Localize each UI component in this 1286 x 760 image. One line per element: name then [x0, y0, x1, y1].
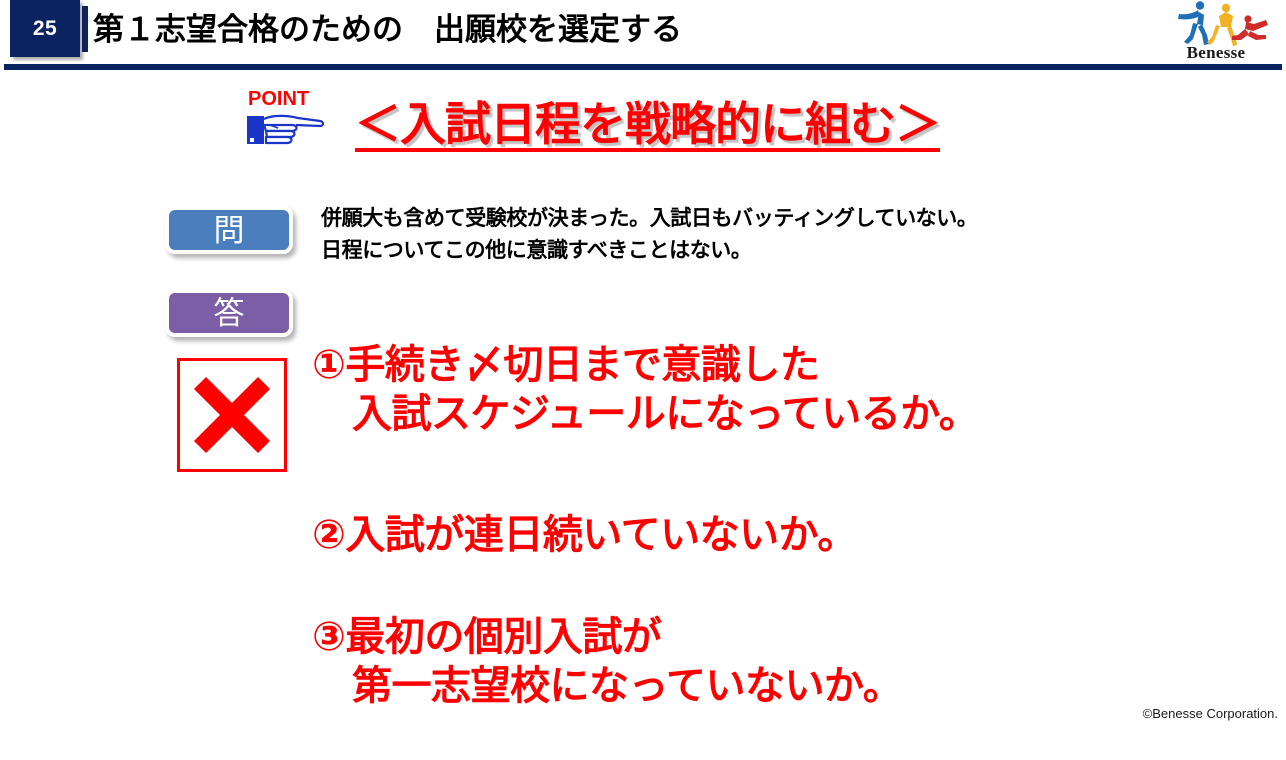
x-mark-icon	[180, 361, 284, 469]
answer-item: ③最初の個別入試が 第一志望校になっていないか。	[312, 564, 902, 760]
answer-item-line1: ②入試が連日続いていないか。	[312, 513, 857, 557]
page-title: 第１志望合格のための 出願校を選定する	[93, 8, 682, 52]
title-accent-bar	[82, 6, 88, 52]
question-badge: 問	[165, 206, 293, 254]
answer-item-line2: 第一志望校になっていないか。	[312, 662, 902, 711]
pointing-hand-icon	[246, 112, 326, 151]
logo-figure-blue	[1178, 1, 1209, 45]
logo-figure-red	[1232, 15, 1268, 40]
answer-badge-label: 答	[214, 298, 245, 329]
page-number-text: 25	[33, 17, 57, 41]
page-number-box: 25	[10, 0, 80, 57]
question-text: 併願大も含めて受験校が決まった。入試日もバッティングしていない。 日程についてこ…	[321, 203, 977, 267]
main-heading-group: ＜入試日程を戦略的に組む＞	[355, 97, 940, 152]
answer-badge: 答	[165, 289, 293, 337]
x-mark-box	[177, 358, 287, 472]
point-label: POINT	[248, 88, 309, 111]
benesse-wordmark: Benesse	[1154, 43, 1278, 63]
header-divider	[4, 64, 1282, 70]
answer-item: ②入試が連日続いていないか。	[312, 462, 857, 560]
point-icon-group: POINT	[246, 88, 332, 150]
question-badge-label: 問	[214, 215, 245, 246]
answer-item-line2: 入試スケジュールになっているか。	[312, 390, 978, 439]
answer-item-line1: ①手続き〆切日まで意識した	[312, 343, 819, 387]
answer-item: ①手続き〆切日まで意識した 入試スケジュールになっているか。	[312, 292, 978, 488]
answer-item-line1: ③最初の個別入試が	[312, 615, 661, 659]
main-heading-text: ＜入試日程を戦略的に組む＞	[355, 97, 940, 151]
footer-copyright: ©Benesse Corporation.	[1143, 706, 1278, 721]
benesse-logo: Benesse	[1154, 1, 1278, 63]
slide-header: 25 第１志望合格のための 出願校を選定する	[0, 0, 1286, 72]
